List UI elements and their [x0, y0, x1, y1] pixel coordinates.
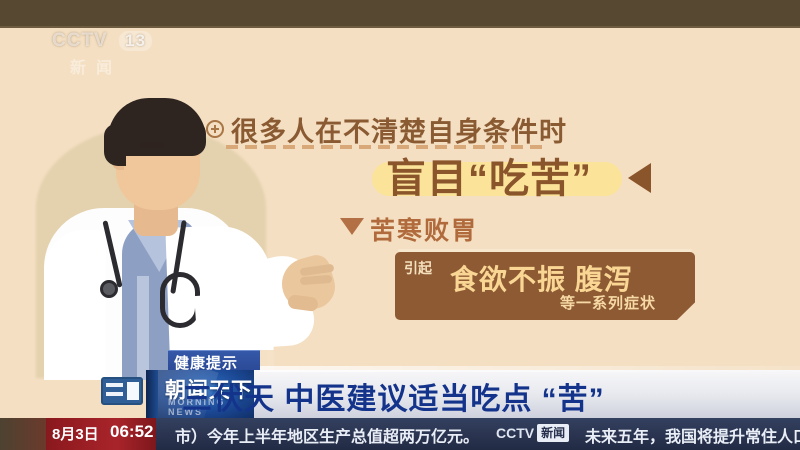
status-badge: 健康提示: [168, 350, 260, 370]
channel-watermark: CCTV 13 新闻: [46, 28, 176, 84]
page-title: 三伏天 中医建议适当吃点 “苦”: [182, 374, 605, 418]
triangle-left-icon: [628, 163, 651, 193]
cctv-news-logo-text: CCTV: [496, 425, 534, 441]
ticker-item-1: 市）今年上半年地区生产总值超两万亿元。: [175, 423, 479, 447]
hair-side: [104, 124, 126, 166]
medical-cross-circle-icon: [206, 120, 224, 138]
cctv-news-logo-badge: 新闻: [537, 424, 569, 442]
callout-line-2: 盲目“吃苦”: [386, 146, 592, 204]
watermark-subtitle: 新闻: [70, 54, 122, 78]
watermark-channel-number: 13: [119, 31, 152, 51]
cctv-news-logo: CCTV 新闻: [496, 424, 569, 441]
stethoscope-bell: [100, 280, 118, 298]
callout-line-1-text: 很多人在不清楚自身条件时: [231, 117, 567, 147]
symptom-box-suffix: 等一系列症状: [560, 292, 656, 313]
symptom-box-top-accent: [398, 249, 692, 252]
triangle-down-icon: [340, 218, 364, 235]
ticker-item-2: 未来五年，我国将提升常住人口: [585, 423, 800, 447]
symptom-box-prefix: 引起: [404, 258, 432, 278]
watermark-cctv-text: CCTV: [52, 30, 108, 51]
watermark-row-top: CCTV 13: [52, 30, 152, 52]
headline-gloss: [260, 366, 800, 372]
eyebrow: [140, 142, 164, 148]
ticker-time: 06:52: [110, 422, 153, 442]
ticker-clock-left-cap: [0, 418, 46, 450]
tv-broadcast-frame: CCTV 13 新闻 很多人在不清楚自身条: [0, 0, 800, 450]
callout-line-1: 很多人在不清楚自身条件时: [206, 110, 567, 149]
lower-third: 健康提示 三伏天 中医建议适当吃点 “苦” 朝闻天下 MORNING NEWS …: [0, 350, 800, 450]
top-letterbox-bar: [0, 0, 800, 27]
ticker-date: 8月3日: [52, 423, 99, 444]
callout-line-3: 苦寒败胃: [370, 211, 478, 247]
